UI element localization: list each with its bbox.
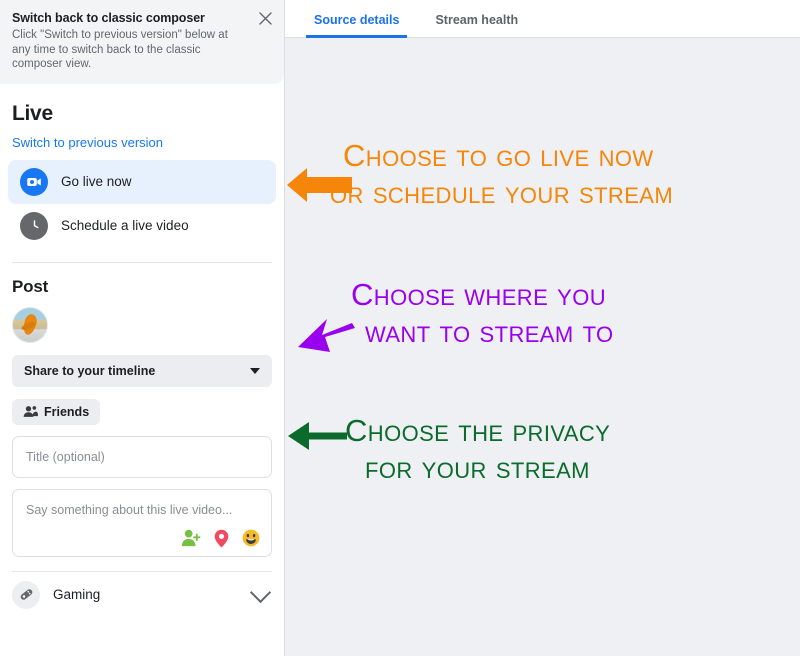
annotation-privacy: Choose the privacy for your stream <box>345 413 610 486</box>
annotation-line-2: want to stream to <box>365 314 614 351</box>
tab-stream-health[interactable]: Stream health <box>431 13 522 37</box>
annotation-line-1: Choose where you <box>351 277 614 314</box>
app-root: Switch back to classic composer Click "S… <box>0 0 800 656</box>
post-heading: Post <box>12 277 284 297</box>
banner-description: Click "Switch to previous version" below… <box>12 28 237 72</box>
green-left-arrow-icon <box>286 419 348 453</box>
switch-to-previous-version-link[interactable]: Switch to previous version <box>12 135 284 150</box>
description-input[interactable]: Say something about this live video... <box>12 489 272 557</box>
privacy-chip[interactable]: Friends <box>12 399 100 425</box>
banner-title: Switch back to classic composer <box>12 10 270 26</box>
emoji-icon[interactable] <box>242 529 260 547</box>
chevron-down-icon[interactable] <box>250 582 271 603</box>
gamepad-icon <box>12 581 40 609</box>
annotation-line-2: for your stream <box>365 450 610 487</box>
annotation-line-2: or schedule your stream <box>330 175 673 212</box>
sidebar-item-label: Go live now <box>61 174 132 189</box>
purple-down-left-arrow-icon <box>295 309 357 357</box>
tab-source-details[interactable]: Source details <box>310 13 403 37</box>
description-toolbar <box>181 529 260 548</box>
annotation-layer: Choose to go live now or schedule your s… <box>285 38 800 656</box>
composer-sidebar: Switch back to classic composer Click "S… <box>0 0 284 656</box>
annotation-go-live: Choose to go live now or schedule your s… <box>343 138 673 211</box>
sidebar-item-go-live-now[interactable]: Go live now <box>8 160 276 204</box>
audience-select[interactable]: Share to your timeline <box>12 355 272 387</box>
avatar[interactable] <box>12 307 48 343</box>
title-input-placeholder: Title (optional) <box>26 450 105 464</box>
friends-icon <box>23 405 38 418</box>
gaming-section-row[interactable]: Gaming <box>0 572 284 618</box>
privacy-chip-label: Friends <box>44 405 89 419</box>
sidebar-item-schedule-a-live-video[interactable]: Schedule a live video <box>8 204 276 248</box>
title-input[interactable]: Title (optional) <box>12 436 272 478</box>
location-pin-icon[interactable] <box>214 529 229 548</box>
annotation-line-1: Choose to go live now <box>343 138 673 175</box>
video-camera-icon <box>20 168 48 196</box>
tag-people-icon[interactable] <box>181 529 201 547</box>
annotation-stream-destination: Choose where you want to stream to <box>351 277 614 350</box>
right-panel: Source details Stream health Choose to g… <box>284 0 800 656</box>
tab-bar: Source details Stream health <box>285 0 800 38</box>
audience-select-value: Share to your timeline <box>24 364 155 378</box>
description-input-placeholder: Say something about this live video... <box>26 503 232 517</box>
close-icon[interactable] <box>256 9 274 27</box>
classic-composer-banner: Switch back to classic composer Click "S… <box>0 0 284 84</box>
sidebar-item-label: Schedule a live video <box>61 218 189 233</box>
live-heading: Live <box>12 102 284 126</box>
annotation-line-1: Choose the privacy <box>345 413 610 450</box>
caret-down-icon <box>250 368 260 374</box>
section-divider <box>12 262 272 263</box>
gaming-label: Gaming <box>53 587 240 602</box>
clock-icon <box>20 212 48 240</box>
